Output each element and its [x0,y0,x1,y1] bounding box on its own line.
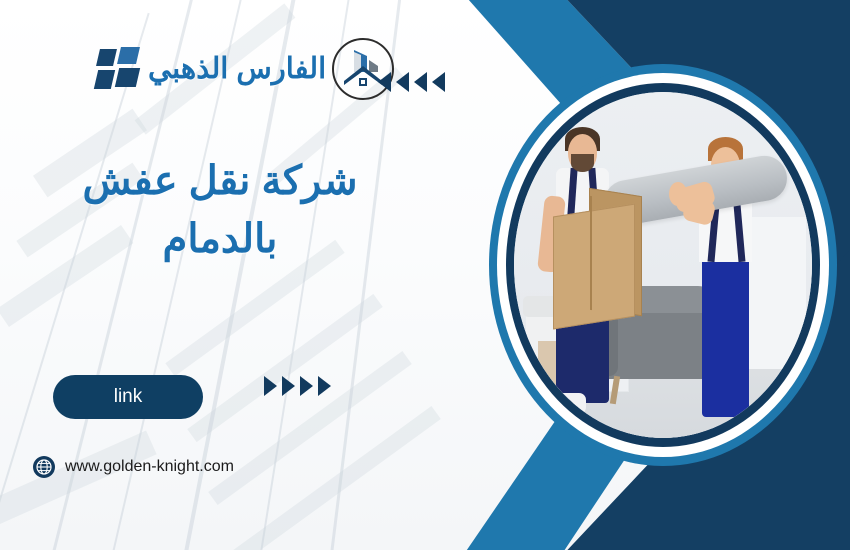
arrow-right-icon [264,376,277,396]
arrow-right-icon [282,376,295,396]
brand-logo[interactable]: الفارس الذهبي [96,38,332,100]
headline-line-1: شركة نقل عفش [82,159,357,203]
website-url-text: www.golden-knight.com [65,458,234,476]
promo-banner: الفارس الذهبي شركة نقل عفش بالدمام [0,0,850,550]
right-arrows-decoration [264,376,331,396]
arrow-left-icon [396,72,409,92]
logo-text: الفارس الذهبي [148,55,326,84]
globe-icon [32,455,56,479]
circle-navy-ring [506,83,820,447]
arrow-right-icon [300,376,313,396]
movers-photo [514,92,812,438]
headline-line-2: بالدمام [40,210,400,268]
left-arrows-decoration [378,72,445,92]
link-button[interactable]: link [53,375,203,419]
building-house-badge-icon [330,36,396,102]
hero-photo-circle [489,64,837,466]
arrow-left-icon [432,72,445,92]
page-title: شركة نقل عفش بالدمام [40,152,400,268]
circle-white-ring [497,73,829,457]
arrow-left-icon [378,72,391,92]
logo-blocks-icon [96,47,142,91]
website-url-row[interactable]: www.golden-knight.com [32,455,234,479]
arrow-right-icon [318,376,331,396]
arrow-left-icon [414,72,427,92]
